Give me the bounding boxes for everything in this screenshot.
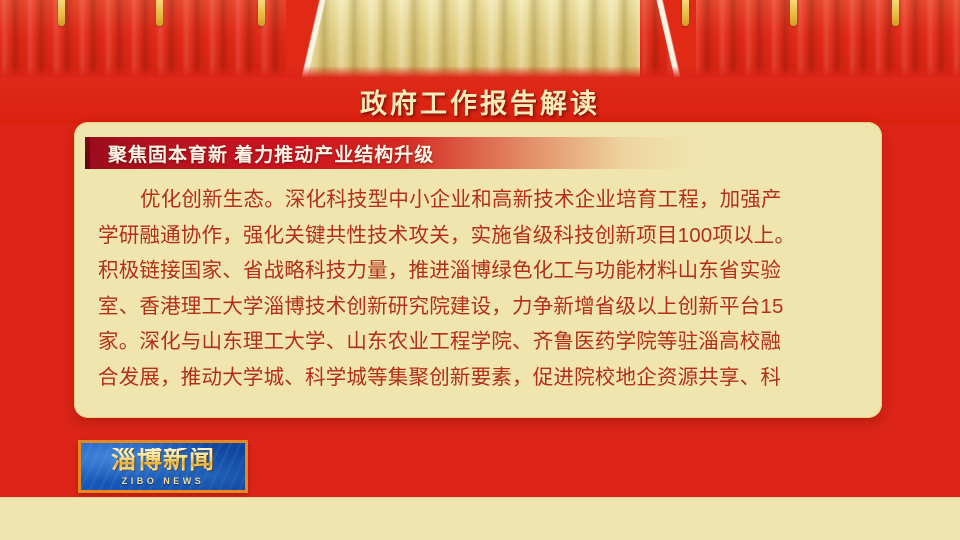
subtitle-text: 聚焦固本育新 着力推动产业结构升级 [108,140,434,167]
channel-logo-english: ZIBO NEWS [122,477,205,486]
body-line: 合发展，推动大学城、科学城等集聚创新要素，促进院校地企资源共享、科 [98,360,860,396]
curtain-tassel-icon [156,0,163,26]
curtain-tassel-icon [258,0,265,26]
curtain-tassel-icon [58,0,65,26]
body-line: 积极链接国家、省战略科技力量，推进淄博绿色化工与功能材料山东省实验 [98,253,860,289]
channel-logo-badge: 淄博新闻 ZIBO NEWS [78,440,248,493]
curtain-tassel-icon [892,0,899,26]
broadcast-frame: 政府工作报告解读 聚焦固本育新 着力推动产业结构升级 优化创新生态。深化科技型中… [0,0,960,540]
body-line: 优化创新生态。深化科技型中小企业和高新技术企业培育工程，加强产 [98,182,860,218]
report-body-text: 优化创新生态。深化科技型中小企业和高新技术企业培育工程，加强产 学研融通协作，强… [98,182,860,395]
content-card: 聚焦固本育新 着力推动产业结构升级 优化创新生态。深化科技型中小企业和高新技术企… [74,122,882,418]
curtain-tassel-icon [790,0,797,26]
body-line: 家。深化与山东理工大学、山东农业工程学院、齐鲁医药学院等驻淄高校融 [98,324,860,360]
channel-logo-chinese: 淄博新闻 [111,448,215,473]
page-title: 政府工作报告解读 [360,82,600,121]
body-line: 学研融通协作，强化关键共性技术攻关，实施省级科技创新项目100项以上。 [98,218,860,254]
stage-curtain-backdrop [0,0,960,78]
title-band: 政府工作报告解读 [0,78,960,124]
subtitle-banner: 聚焦固本育新 着力推动产业结构升级 [85,137,700,169]
body-line: 室、香港理工大学淄博技术创新研究院建设，力争新增省级以上创新平台15 [98,289,860,325]
subtitle-banner-cap [85,137,90,169]
curtain-bottom-fade [0,66,960,78]
bottom-strip [0,497,960,540]
curtain-tassel-icon [682,0,689,26]
